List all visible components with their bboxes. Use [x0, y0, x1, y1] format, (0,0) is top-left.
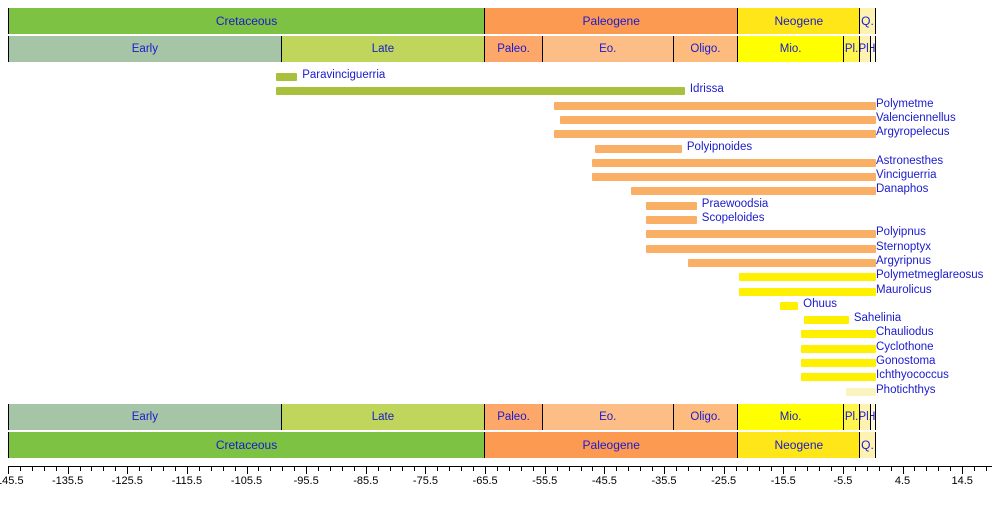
- axis-tick-minor: [867, 466, 868, 471]
- period-paleogene: Paleogene: [485, 432, 738, 458]
- taxon-row: Photichthys: [0, 385, 1000, 399]
- timescale-period-band-bottom: CretaceousPaleogeneNeogeneQ.: [8, 432, 992, 458]
- axis-tick-label: -145.5: [0, 475, 24, 487]
- axis-tick-minor: [747, 466, 748, 471]
- axis-tick-minor: [736, 466, 737, 471]
- taxon-row: Paravinciguerria: [0, 70, 1000, 84]
- band-label: Paleogene: [583, 14, 640, 28]
- taxon-label: Polyipnus: [876, 225, 926, 239]
- axis-tick-label: 4.5: [895, 475, 910, 487]
- taxon-label: Argyropelecus: [876, 125, 950, 139]
- axis-tick-minor: [569, 466, 570, 471]
- axis-tick-minor: [163, 466, 164, 471]
- axis-tick-label: -135.5: [52, 475, 83, 487]
- axis-tick-minor: [223, 466, 224, 471]
- axis-tick-minor: [91, 466, 92, 471]
- taxon-range-bar[interactable]: [554, 102, 876, 110]
- axis-tick-minor: [712, 466, 713, 471]
- axis-tick-major: [187, 466, 188, 474]
- band-label: Cretaceous: [216, 14, 277, 28]
- taxon-row: Polymetme: [0, 99, 1000, 113]
- period-neogene: Neogene: [738, 8, 860, 34]
- axis-tick-minor: [616, 466, 617, 471]
- taxon-range-bar[interactable]: [780, 302, 798, 310]
- axis-tick-major: [306, 466, 307, 474]
- axis-tick-major: [425, 466, 426, 474]
- axis-tick-label: -45.5: [592, 475, 617, 487]
- axis-tick-minor: [318, 466, 319, 471]
- period-cretaceous: Cretaceous: [8, 8, 485, 34]
- taxon-row: Scopeloides: [0, 213, 1000, 227]
- band-label: Eo.: [599, 411, 616, 423]
- axis-tick-minor: [950, 466, 951, 471]
- epoch-eo: Eo.: [543, 36, 674, 62]
- taxon-label: Argyripnus: [876, 254, 931, 268]
- band-label: Eo.: [599, 43, 616, 55]
- axis-tick-minor: [390, 466, 391, 471]
- epoch-eo: Eo.: [543, 404, 674, 430]
- stratigraphic-range-chart: CretaceousPaleogeneNeogeneQ. EarlyLatePa…: [0, 0, 1000, 508]
- axis-tick-minor: [103, 466, 104, 471]
- band-label: Paleo.: [497, 411, 530, 423]
- taxon-label: Photichthys: [876, 383, 935, 397]
- band-label: Pl.: [860, 43, 871, 55]
- axis-tick-minor: [151, 466, 152, 471]
- taxon-row: Maurolicus: [0, 285, 1000, 299]
- band-label: Oligo.: [690, 43, 720, 55]
- taxon-label: Ichthyococcus: [876, 368, 949, 382]
- axis-tick-major: [903, 466, 904, 474]
- band-label: Paleo.: [497, 43, 530, 55]
- epoch-h: H.: [871, 404, 876, 430]
- axis-tick-minor: [676, 466, 677, 471]
- period-cretaceous: Cretaceous: [8, 432, 485, 458]
- axis-tick-minor: [628, 466, 629, 471]
- taxon-row: Astronesthes: [0, 156, 1000, 170]
- band-label: Pl.: [860, 411, 871, 423]
- taxon-range-bar[interactable]: [646, 216, 697, 224]
- taxon-range-bar[interactable]: [595, 145, 681, 153]
- band-label: Mio.: [780, 411, 802, 423]
- axis-tick-minor: [592, 466, 593, 471]
- taxon-range-bar[interactable]: [739, 288, 876, 296]
- axis-tick-minor: [342, 466, 343, 471]
- axis-tick-minor: [879, 466, 880, 471]
- taxon-range-bar[interactable]: [801, 330, 876, 338]
- taxon-range-bar[interactable]: [801, 373, 876, 381]
- axis-tick-minor: [258, 466, 259, 471]
- taxon-label: Idrissa: [690, 82, 724, 96]
- axis-tick-minor: [115, 466, 116, 471]
- axis-tick-major: [843, 466, 844, 474]
- band-label: Late: [372, 43, 394, 55]
- taxon-range-bar[interactable]: [739, 273, 876, 281]
- taxon-row: Argyropelecus: [0, 127, 1000, 141]
- axis-tick-minor: [938, 466, 939, 471]
- timescale-epoch-band-top: EarlyLatePaleo.Eo.Oligo.Mio.Pl.Pl.H.: [8, 36, 992, 62]
- period-neogene: Neogene: [738, 432, 860, 458]
- axis-tick-minor: [652, 466, 653, 471]
- axis-tick-minor: [581, 466, 582, 471]
- axis-tick-minor: [378, 466, 379, 471]
- axis-tick-major: [664, 466, 665, 474]
- taxon-row: Idrissa: [0, 84, 1000, 98]
- axis-tick-minor: [795, 466, 796, 471]
- taxon-row: Polymetmeglareosus: [0, 270, 1000, 284]
- axis-tick-minor: [414, 466, 415, 471]
- axis-tick-major: [783, 466, 784, 474]
- taxon-label: Astronesthes: [876, 154, 943, 168]
- epoch-paleo: Paleo.: [485, 36, 543, 62]
- taxon-row: Vinciguerria: [0, 170, 1000, 184]
- axis-tick-minor: [509, 466, 510, 471]
- taxon-range-bar[interactable]: [646, 230, 876, 238]
- axis-tick-label: -75.5: [413, 475, 438, 487]
- axis-tick-label: -85.5: [353, 475, 378, 487]
- axis-tick-minor: [640, 466, 641, 471]
- band-label: Pl.: [845, 411, 858, 423]
- taxon-range-bar[interactable]: [801, 359, 876, 367]
- axis-tick-label: -95.5: [294, 475, 319, 487]
- taxon-label: Valenciennellus: [876, 111, 956, 125]
- taxon-range-bar[interactable]: [804, 316, 849, 324]
- taxon-row: Cyclothone: [0, 342, 1000, 356]
- epoch-mio: Mio.: [738, 36, 844, 62]
- taxon-label: Chauliodus: [876, 325, 934, 339]
- axis-tick-label: -125.5: [112, 475, 143, 487]
- axis-tick-minor: [986, 466, 987, 471]
- axis-tick-major: [604, 466, 605, 474]
- taxon-row: Praewoodsia: [0, 199, 1000, 213]
- band-label: Early: [132, 411, 158, 423]
- axis-tick-minor: [32, 466, 33, 471]
- taxon-label: Sahelinia: [854, 311, 901, 325]
- taxon-range-bar[interactable]: [554, 130, 876, 138]
- band-label: H.: [871, 43, 876, 55]
- axis-tick-minor: [80, 466, 81, 471]
- axis-tick-minor: [700, 466, 701, 471]
- timescale-period-band-top: CretaceousPaleogeneNeogeneQ.: [8, 8, 992, 34]
- axis-tick-minor: [199, 466, 200, 471]
- axis-tick-label: -55.5: [532, 475, 557, 487]
- axis-tick-minor: [914, 466, 915, 471]
- axis-tick-minor: [437, 466, 438, 471]
- taxon-label: Polymetmeglareosus: [876, 268, 983, 282]
- time-axis: -145.5-135.5-125.5-115.5-105.5-95.5-85.5…: [0, 460, 1000, 508]
- band-label: Neogene: [774, 438, 823, 452]
- axis-tick-minor: [831, 466, 832, 471]
- axis-tick-major: [68, 466, 69, 474]
- taxon-row: Ohuus: [0, 299, 1000, 313]
- taxon-label: Sternoptyx: [876, 240, 931, 254]
- taxon-row: Polyipnus: [0, 227, 1000, 241]
- taxon-label: Paravinciguerria: [302, 68, 385, 82]
- epoch-pl: Pl.: [860, 36, 871, 62]
- axis-tick-label: -5.5: [833, 475, 852, 487]
- epoch-pl: Pl.: [860, 404, 871, 430]
- axis-tick-minor: [891, 466, 892, 471]
- band-label: Late: [372, 411, 394, 423]
- taxon-row: Sternoptyx: [0, 242, 1000, 256]
- axis-tick-minor: [56, 466, 57, 471]
- axis-tick-major: [366, 466, 367, 474]
- taxon-range-bar[interactable]: [646, 245, 876, 253]
- axis-tick-minor: [139, 466, 140, 471]
- band-label: Pl.: [845, 43, 858, 55]
- taxon-range-bar[interactable]: [560, 116, 876, 124]
- axis-tick-major: [962, 466, 963, 474]
- band-label: Q.: [861, 438, 874, 452]
- taxon-label: Maurolicus: [876, 283, 932, 297]
- band-label: Paleogene: [583, 438, 640, 452]
- band-label: Oligo.: [690, 411, 720, 423]
- axis-tick-minor: [497, 466, 498, 471]
- axis-tick-minor: [473, 466, 474, 471]
- axis-tick-minor: [521, 466, 522, 471]
- axis-tick-minor: [759, 466, 760, 471]
- axis-tick-minor: [294, 466, 295, 471]
- axis-line: [8, 466, 992, 467]
- taxon-range-bar[interactable]: [688, 259, 876, 267]
- axis-tick-minor: [557, 466, 558, 471]
- taxon-range-bar[interactable]: [592, 159, 875, 167]
- band-label: Q.: [861, 14, 874, 28]
- epoch-h: H.: [871, 36, 876, 62]
- taxon-row: Polyipnoides: [0, 142, 1000, 156]
- period-q: Q.: [860, 432, 875, 458]
- epoch-paleo: Paleo.: [485, 404, 543, 430]
- axis-tick-label: -15.5: [771, 475, 796, 487]
- axis-tick-minor: [354, 466, 355, 471]
- axis-tick-minor: [819, 466, 820, 471]
- axis-tick-minor: [282, 466, 283, 471]
- band-label: H.: [871, 411, 876, 423]
- axis-tick-minor: [211, 466, 212, 471]
- axis-tick-minor: [533, 466, 534, 471]
- taxon-label: Cyclothone: [876, 340, 934, 354]
- taxon-label: Polymetme: [876, 97, 934, 111]
- axis-tick-label: 14.5: [951, 475, 972, 487]
- epoch-oligo: Oligo.: [674, 36, 739, 62]
- taxon-range-bar[interactable]: [846, 388, 876, 396]
- axis-tick-minor: [926, 466, 927, 471]
- taxon-range-bar[interactable]: [801, 345, 876, 353]
- axis-tick-minor: [461, 466, 462, 471]
- axis-tick-minor: [855, 466, 856, 471]
- epoch-early: Early: [8, 404, 282, 430]
- taxon-label: Polyipnoides: [687, 140, 752, 154]
- taxon-label: Ohuus: [803, 297, 837, 311]
- axis-tick-label: -105.5: [231, 475, 262, 487]
- taxon-label: Vinciguerria: [876, 168, 937, 182]
- axis-tick-minor: [688, 466, 689, 471]
- taxon-label: Praewoodsia: [702, 197, 768, 211]
- epoch-early: Early: [8, 36, 282, 62]
- axis-tick-major: [8, 466, 9, 474]
- taxon-range-bar[interactable]: [646, 202, 697, 210]
- taxon-row: Danaphos: [0, 184, 1000, 198]
- axis-tick-major: [545, 466, 546, 474]
- axis-tick-minor: [807, 466, 808, 471]
- epoch-mio: Mio.: [738, 404, 844, 430]
- taxon-range-bar[interactable]: [276, 73, 297, 81]
- axis-tick-minor: [44, 466, 45, 471]
- epoch-late: Late: [282, 36, 485, 62]
- axis-tick-minor: [974, 466, 975, 471]
- taxon-range-bar[interactable]: [631, 187, 876, 195]
- axis-tick-major: [724, 466, 725, 474]
- taxon-range-bar[interactable]: [592, 173, 875, 181]
- band-label: Neogene: [774, 14, 823, 28]
- taxon-label: Gonostoma: [876, 354, 935, 368]
- taxa-range-plot: ParavinciguerriaIdrissaPolymetmeValencie…: [0, 66, 1000, 396]
- band-label: Early: [132, 43, 158, 55]
- taxon-row: Valenciennellus: [0, 113, 1000, 127]
- taxon-row: Argyripnus: [0, 256, 1000, 270]
- band-label: Mio.: [780, 43, 802, 55]
- axis-tick-label: -65.5: [473, 475, 498, 487]
- axis-tick-major: [485, 466, 486, 474]
- axis-tick-minor: [330, 466, 331, 471]
- timescale-epoch-band-bottom: EarlyLatePaleo.Eo.Oligo.Mio.Pl.Pl.H.: [8, 404, 992, 430]
- epoch-pl: Pl.: [844, 404, 860, 430]
- period-paleogene: Paleogene: [485, 8, 738, 34]
- axis-tick-major: [247, 466, 248, 474]
- epoch-pl: Pl.: [844, 36, 860, 62]
- taxon-row: Sahelinia: [0, 313, 1000, 327]
- taxon-row: Gonostoma: [0, 356, 1000, 370]
- axis-tick-major: [127, 466, 128, 474]
- axis-tick-label: -25.5: [711, 475, 736, 487]
- axis-tick-minor: [270, 466, 271, 471]
- axis-tick-minor: [235, 466, 236, 471]
- taxon-label: Danaphos: [876, 182, 928, 196]
- taxon-label: Scopeloides: [702, 211, 765, 225]
- axis-tick-minor: [449, 466, 450, 471]
- axis-tick-minor: [771, 466, 772, 471]
- axis-tick-label: -35.5: [651, 475, 676, 487]
- band-label: Cretaceous: [216, 438, 277, 452]
- axis-tick-minor: [175, 466, 176, 471]
- epoch-oligo: Oligo.: [674, 404, 739, 430]
- axis-tick-label: -115.5: [172, 475, 202, 487]
- axis-tick-minor: [20, 466, 21, 471]
- axis-tick-minor: [402, 466, 403, 471]
- taxon-row: Chauliodus: [0, 327, 1000, 341]
- epoch-late: Late: [282, 404, 485, 430]
- taxon-range-bar[interactable]: [276, 87, 685, 95]
- period-q: Q.: [860, 8, 875, 34]
- taxon-row: Ichthyococcus: [0, 370, 1000, 384]
